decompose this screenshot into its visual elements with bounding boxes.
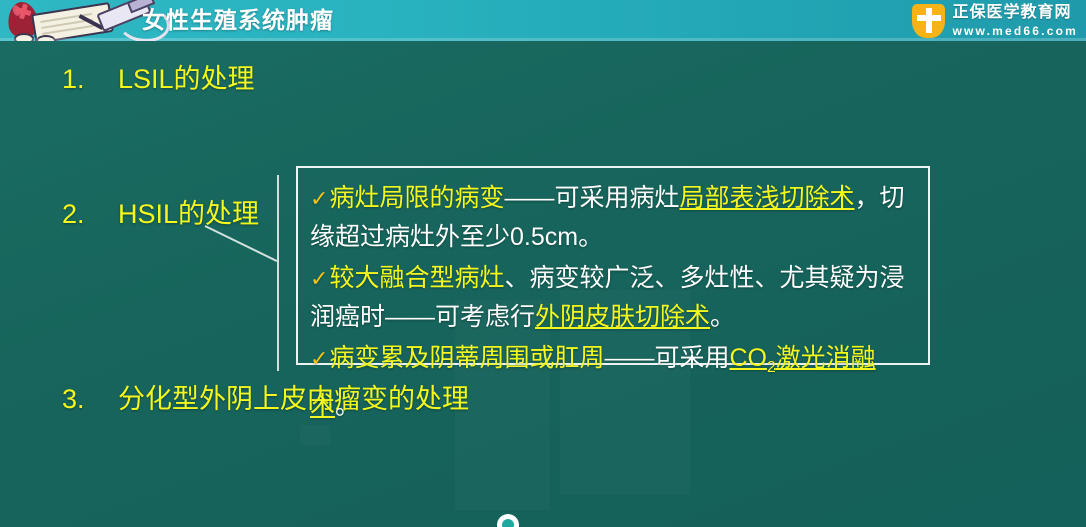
outline-item-2: 2.HSIL的处理 [62,192,259,231]
bullet-key-prefix: CO [729,344,767,372]
brand-logo: 正保医学教育网 www.med66.com [912,1,1078,40]
medical-illustration-icon [0,0,140,41]
brand-name: 正保医学教育网 [952,5,1078,21]
bullet-lead-text: 病灶局限的病变 [329,184,504,212]
player-progress-handle-inner [502,519,514,527]
brand-url: www.med66.com [952,25,1078,37]
bullet-mid-text: ——可采用病灶 [504,184,679,212]
outline-label: LSIL的处理 [118,64,255,94]
bullet-key-term: 局部表浅切除术 [679,184,854,212]
header-bar: 女性生殖系统肿瘤 正保医学教育网 www.med66.com [0,0,1086,41]
outline-label: HSIL的处理 [118,199,259,229]
check-icon: ✓ [310,346,328,371]
background-blotch [300,425,330,445]
check-icon: ✓ [310,186,328,211]
bullet-lead-text: 较大融合型病灶 [329,264,504,292]
bullet-tail-text: 。 [335,392,360,420]
outline-number: 3. [62,384,118,415]
detail-bullet-2: ✓较大融合型病灶、病变较广泛、多灶性、尤其疑为浸润癌时——可考虑行外阴皮肤切除术… [310,259,914,337]
outline-number: 2. [62,199,118,230]
outline-number: 1. [62,64,118,95]
shield-cross-icon [912,4,945,38]
page-title: 女性生殖系统肿瘤 [142,4,334,37]
bullet-mid-text: ——可采用 [604,344,729,372]
connector-vertical-line [277,175,279,371]
brand-text: 正保医学教育网 www.med66.com [952,5,1078,37]
bullet-key-subscript: 2 [767,359,776,376]
slide-root: 女性生殖系统肿瘤 正保医学教育网 www.med66.com 1.LSIL的处理… [0,0,1086,527]
header-divider [0,38,1086,41]
bullet-lead-text: 病变累及阴蒂周围或肛周 [329,344,604,372]
player-progress-handle[interactable] [497,514,519,527]
detail-bullet-3: ✓病变累及阴蒂周围或肛周——可采用CO2激光消融术。 [310,339,914,426]
outline-item-1: 1.LSIL的处理 [62,57,255,96]
bullet-tail-text: 。 [710,303,735,331]
shield-cross-horizontal [917,15,941,21]
check-icon: ✓ [310,266,328,291]
detail-bullet-1: ✓病灶局限的病变——可采用病灶局部表浅切除术，切缘超过病灶外至少0.5cm。 [310,179,914,257]
bullet-key-term: 外阴皮肤切除术 [535,303,710,331]
detail-box: ✓病灶局限的病变——可采用病灶局部表浅切除术，切缘超过病灶外至少0.5cm。 ✓… [296,166,930,365]
